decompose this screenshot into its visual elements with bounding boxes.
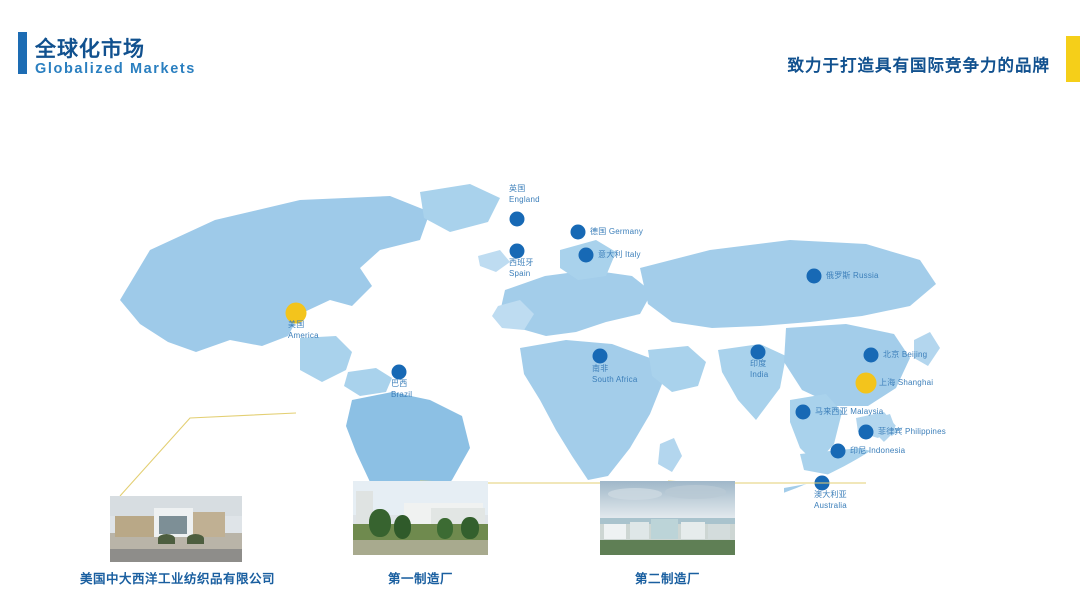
photo-factory-one[interactable] — [353, 481, 488, 555]
map-marker-australia[interactable] — [815, 476, 830, 491]
photo-caption-us-plant: 美国中大西洋工业纺织品有限公司 — [70, 568, 285, 587]
photo-caption-factory-one: 第一制造厂 — [353, 568, 488, 587]
map-marker-italy[interactable] — [579, 248, 594, 263]
header-slogan: 致力于打造具有国际竞争力的品牌 — [788, 52, 1051, 76]
map-landmasses — [120, 184, 946, 500]
photo-cloud — [665, 485, 726, 498]
map-label-en: Australia — [814, 501, 847, 512]
photo-path — [353, 540, 488, 555]
page-title-en: Globalized Markets — [35, 61, 196, 77]
photo-shrub — [187, 534, 204, 543]
photo-glass-entry — [159, 516, 187, 534]
map-marker-beijing[interactable] — [864, 348, 879, 363]
map-marker-england[interactable] — [510, 212, 525, 227]
photo-road — [110, 549, 242, 562]
photo-building — [630, 522, 649, 540]
map-marker-indonesia[interactable] — [831, 444, 846, 459]
map-marker-philippines[interactable] — [859, 425, 874, 440]
photo-building-left — [115, 516, 155, 537]
page-title-cn: 全球化市场 — [35, 33, 145, 63]
map-marker-germany[interactable] — [571, 225, 586, 240]
photo-us-plant[interactable] — [110, 496, 242, 562]
photo-caption-factory-two: 第二制造厂 — [600, 568, 735, 587]
photo-greenery — [600, 540, 735, 555]
header-accent-bar-left — [18, 32, 27, 74]
photo-factory-two[interactable] — [600, 481, 735, 555]
photo-tree — [461, 517, 479, 539]
slide-root: 全球化市场 Globalized Markets 致力于打造具有国际竞争力的品牌 — [0, 0, 1080, 609]
header-accent-bar-right — [1066, 36, 1080, 82]
photo-building — [681, 522, 705, 538]
photo-tree — [394, 515, 412, 539]
map-marker-russia[interactable] — [807, 269, 822, 284]
photo-building — [604, 524, 626, 539]
photo-building — [651, 519, 678, 539]
map-marker-america[interactable] — [286, 303, 307, 324]
photo-tree — [369, 509, 391, 537]
map-marker-malaysia[interactable] — [796, 405, 811, 420]
photo-shrub — [158, 534, 175, 543]
map-marker-shanghai[interactable] — [856, 373, 877, 394]
map-marker-spain[interactable] — [510, 244, 525, 259]
photo-building-right — [192, 512, 225, 537]
photo-building — [708, 524, 730, 539]
world-map-graphic — [0, 100, 1080, 500]
world-map: 美国America巴西Brazil英国England西班牙Spain德国 Ger… — [0, 100, 1080, 500]
slide-header: 全球化市场 Globalized Markets 致力于打造具有国际竞争力的品牌 — [0, 0, 1080, 100]
map-marker-india[interactable] — [751, 345, 766, 360]
map-marker-south_africa[interactable] — [593, 349, 608, 364]
photo-tree — [437, 518, 453, 539]
map-marker-brazil[interactable] — [392, 365, 407, 380]
